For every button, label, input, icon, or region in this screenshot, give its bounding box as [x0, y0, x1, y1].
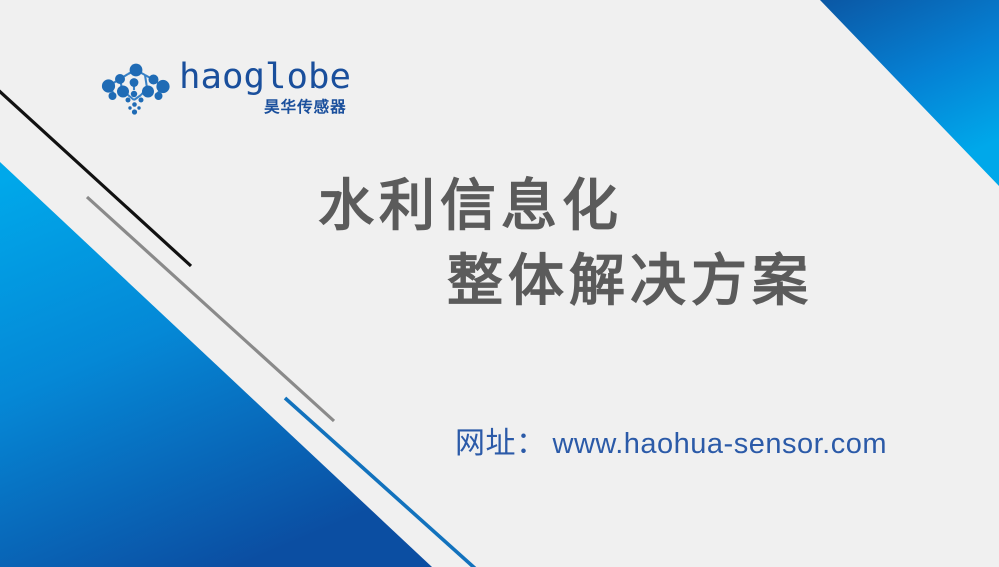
- website-url[interactable]: www.haohua-sensor.com: [553, 428, 888, 461]
- top-right-triangle: [820, 0, 999, 186]
- logo-chinese-subtitle: 昊华传感器: [264, 100, 347, 116]
- company-logo: haoglobe 昊华传感器: [97, 58, 348, 120]
- logo-text-group: haoglobe 昊华传感器: [179, 58, 348, 116]
- slide-title-block: 水利信息化 整体解决方案: [0, 168, 999, 318]
- blue-diagonal-line: [285, 398, 478, 567]
- website-label: 网址：: [455, 418, 547, 462]
- logo-wordmark: haoglobe: [179, 60, 351, 95]
- haoglobe-network-dots-logo-icon: [97, 62, 171, 120]
- slide-title-line-1: 水利信息化: [0, 168, 999, 243]
- website-line: 网址： www.haohua-sensor.com: [455, 418, 887, 462]
- presentation-title-slide: haoglobe 昊华传感器 水利信息化 整体解决方案 网址： www.haoh…: [0, 0, 999, 567]
- slide-title-line-2: 整体解决方案: [0, 243, 999, 318]
